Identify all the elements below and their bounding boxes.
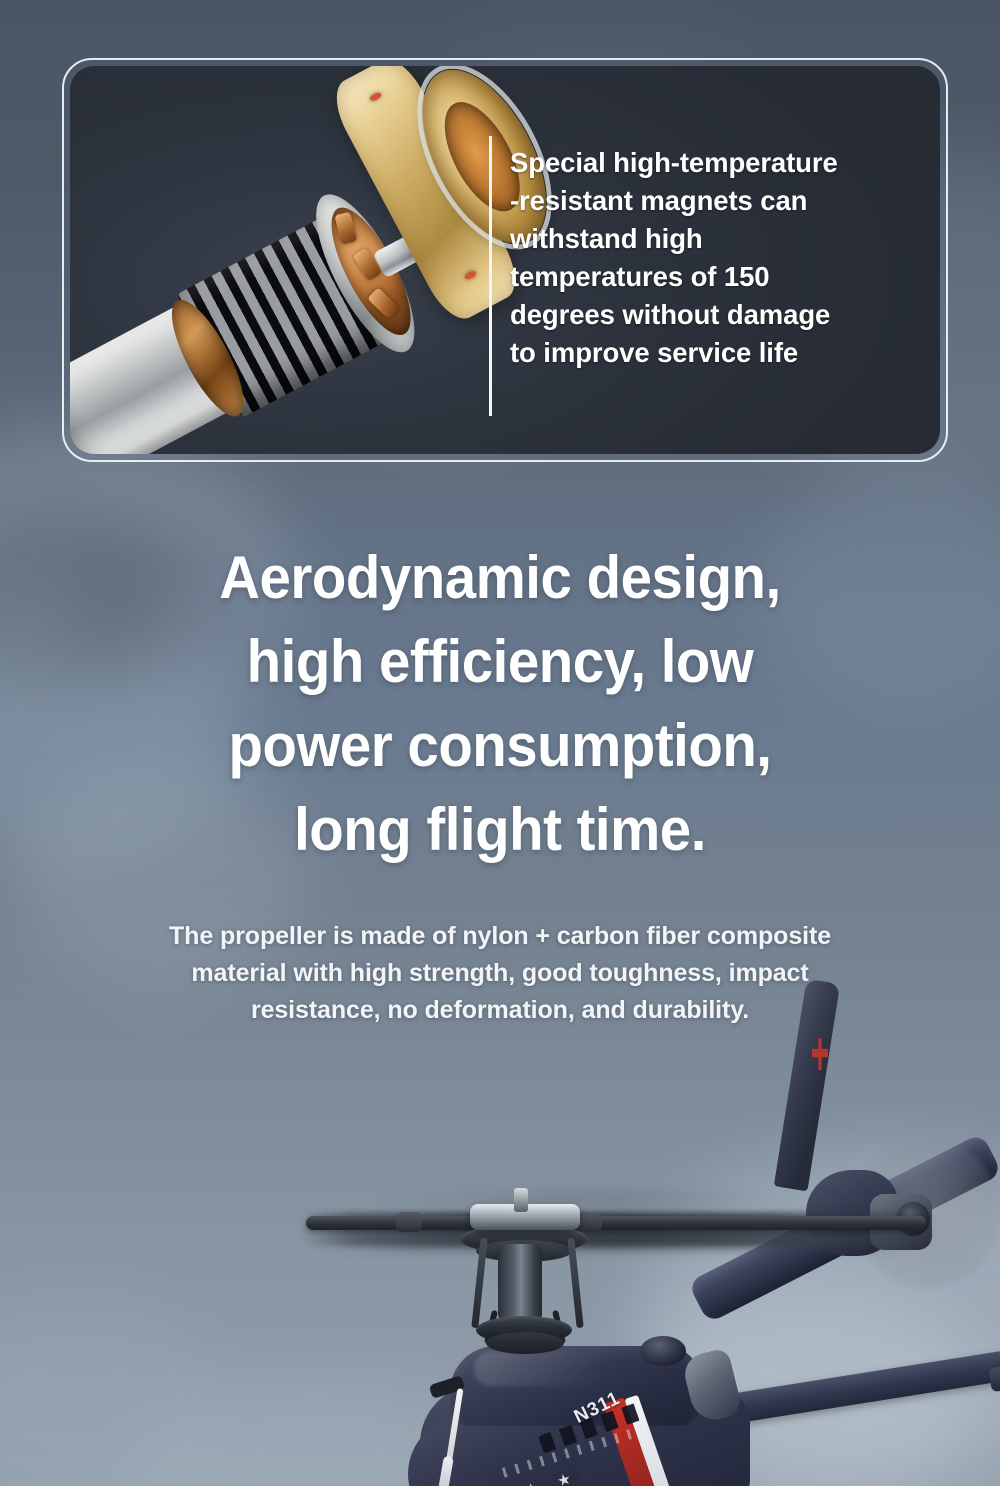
cloud-blob [0, 1300, 220, 1486]
winding-tooth [334, 212, 357, 245]
card-text-line: Special high-temperature [510, 144, 938, 182]
motor-stage [70, 66, 557, 454]
feature-card: Special high-temperature -resistant magn… [62, 58, 948, 462]
vertical-fin [774, 979, 840, 1192]
headline-line: long flight time. [30, 788, 970, 872]
headline-line: Aerodynamic design, [30, 536, 970, 620]
stabilizer-tip [988, 1364, 1000, 1392]
card-text-line: -resistant magnets can [510, 182, 938, 220]
winding-tooth [367, 287, 400, 319]
feature-card-panel: Special high-temperature -resistant magn… [70, 66, 940, 454]
card-text-line: temperatures of 150 [510, 258, 938, 296]
blade-weight [396, 1212, 422, 1232]
page-title: Aerodynamic design, high efficiency, low… [30, 536, 970, 872]
headline-line: high efficiency, low [30, 620, 970, 704]
rc-helicopter-image: N311 ★ ★ ★ [290, 980, 1000, 1486]
card-text-line: withstand high [510, 220, 938, 258]
product-feature-page: Special high-temperature -resistant magn… [0, 0, 1000, 1486]
card-text-line: to improve service life [510, 334, 938, 372]
headline-line: power consumption, [30, 704, 970, 788]
swashplate-inner [486, 1332, 564, 1354]
rotor-mast [498, 1244, 542, 1322]
vertical-divider [489, 136, 492, 416]
rotor-head-strut [567, 1238, 583, 1328]
main-rotor-blur-halo [380, 1186, 810, 1212]
card-text-line: degrees without damage [510, 296, 938, 334]
flange-screw-hole [369, 91, 382, 102]
rotor-head-strut [471, 1238, 487, 1328]
engine-cowl-bump [640, 1336, 686, 1366]
flange-screw-hole [464, 270, 477, 281]
subcopy-line: The propeller is made of nylon + carbon … [90, 918, 910, 955]
motor-exploded-view-image [70, 66, 490, 454]
rotor-spindle [514, 1188, 528, 1212]
horizontal-stabilizer [720, 1349, 1000, 1426]
feature-card-text: Special high-temperature -resistant magn… [510, 144, 938, 372]
